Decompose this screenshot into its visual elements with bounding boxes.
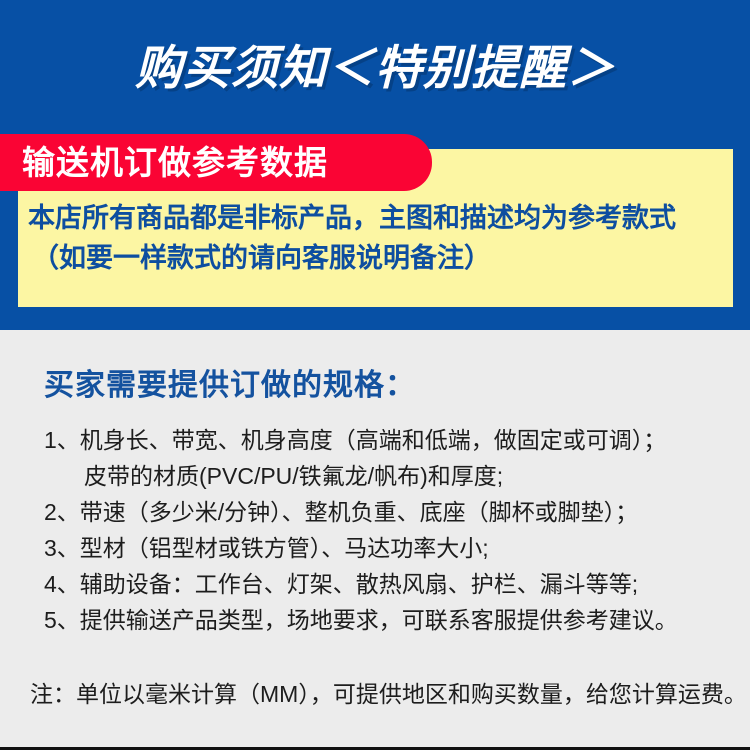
callout-badge-label: 输送机订做参考数据 — [0, 146, 328, 179]
list-item: 2、带速（多少米/分钟）、整机负重、底座（脚杯或脚垫）； — [44, 494, 704, 530]
body-panel: 买家需要提供订做的规格： 1、机身长、带宽、机身高度（高端和低端，做固定或可调）… — [0, 330, 750, 750]
list-item-main: 2、带速（多少米/分钟）、整机负重、底座（脚杯或脚垫）； — [44, 499, 638, 525]
list-item: 4、辅助设备：工作台、灯架、散热风扇、护栏、漏斗等等; — [44, 566, 704, 602]
list-item-main: 3、型材（铝型材或铁方管）、马达功率大小; — [44, 535, 489, 561]
page-title: 购买须知＜特别提醒＞ — [0, 40, 750, 95]
callout-line-1: 本店所有商品都是非标产品，主图和描述均为参考款式 — [18, 198, 733, 238]
callout-text-block: 本店所有商品都是非标产品，主图和描述均为参考款式 （如要一样款式的请向客服说明备… — [18, 198, 733, 278]
section-title: 买家需要提供订做的规格： — [44, 360, 416, 404]
list-item: 3、型材（铝型材或铁方管）、马达功率大小; — [44, 530, 704, 566]
footnote-note: 注：单位以毫米计算（MM），可提供地区和购买数量，给您计算运费。 — [30, 678, 747, 710]
list-item-main: 1、机身长、带宽、机身高度（高端和低端，做固定或可调）； — [44, 427, 666, 453]
list-item-main: 4、辅助设备：工作台、灯架、散热风扇、护栏、漏斗等等; — [44, 571, 638, 597]
callout-line-2: （如要一样款式的请向客服说明备注） — [18, 238, 733, 278]
list-item: 5、提供输送产品类型，场地要求，可联系客服提供参考建议。 — [44, 602, 704, 638]
list-item-main: 5、提供输送产品类型，场地要求，可联系客服提供参考建议。 — [44, 607, 678, 633]
callout-red-badge: 输送机订做参考数据 — [0, 134, 432, 191]
list-item: 1、机身长、带宽、机身高度（高端和低端，做固定或可调）； 皮带的材质(PVC/P… — [44, 422, 704, 494]
list-item-sub: 皮带的材质(PVC/PU/铁氟龙/帆布)和厚度; — [44, 458, 704, 494]
spec-requirements-list: 1、机身长、带宽、机身高度（高端和低端，做固定或可调）； 皮带的材质(PVC/P… — [44, 422, 704, 638]
promo-poster: 购买须知＜特别提醒＞ 输送机订做参考数据 本店所有商品都是非标产品，主图和描述均… — [0, 0, 750, 750]
